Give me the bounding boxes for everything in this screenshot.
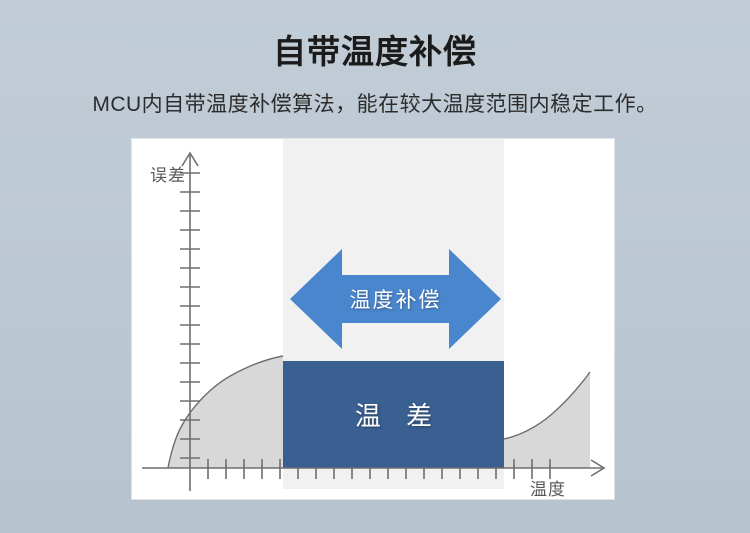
chart-plot-area: 温 差 温度补偿 [132, 139, 614, 499]
y-axis-label: 误差 [150, 161, 186, 186]
page-subtitle: MCU内自带温度补偿算法，能在较大温度范围内稳定工作。 [0, 92, 750, 117]
chart-card: 温 差 温度补偿 [132, 139, 614, 499]
page-title: 自带温度补偿 [0, 32, 750, 72]
chart-axes [132, 139, 614, 499]
page-background: 自带温度补偿 MCU内自带温度补偿算法，能在较大温度范围内稳定工作。 温 差 [0, 0, 750, 533]
x-axis-label: 温度 [530, 475, 566, 499]
